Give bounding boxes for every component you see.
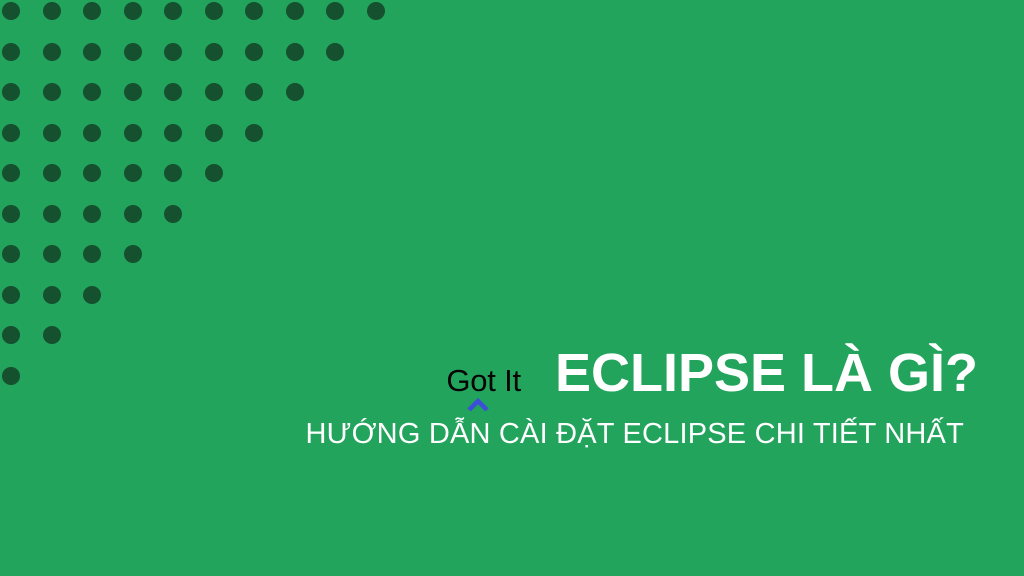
decorative-dot — [43, 43, 61, 61]
decorative-dot — [2, 43, 20, 61]
decorative-dot — [124, 2, 142, 20]
decorative-dot — [124, 245, 142, 263]
decorative-dot — [205, 164, 223, 182]
decorative-dot — [245, 2, 263, 20]
decorative-dot — [83, 245, 101, 263]
decorative-dot — [43, 164, 61, 182]
banner: Got It ECLIPSE LÀ GÌ? HƯỚNG DẪN CÀI ĐẶT … — [0, 0, 1024, 576]
decorative-dot — [164, 2, 182, 20]
decorative-dot — [164, 43, 182, 61]
decorative-dot — [83, 124, 101, 142]
decorative-dot — [205, 43, 223, 61]
decorative-dot — [245, 124, 263, 142]
decorative-dot — [124, 205, 142, 223]
decorative-dot — [286, 83, 304, 101]
decorative-dot — [205, 83, 223, 101]
chevron-up-icon — [467, 398, 489, 411]
decorative-dot — [2, 326, 20, 344]
decorative-dot — [205, 124, 223, 142]
decorative-dot — [2, 164, 20, 182]
decorative-dot — [83, 164, 101, 182]
decorative-dot — [43, 2, 61, 20]
decorative-dot — [83, 205, 101, 223]
decorative-dot — [83, 43, 101, 61]
decorative-dot — [286, 43, 304, 61]
decorative-dot — [326, 43, 344, 61]
decorative-dot — [83, 83, 101, 101]
decorative-dot — [43, 326, 61, 344]
decorative-dot — [43, 205, 61, 223]
decorative-dot — [43, 124, 61, 142]
decorative-dot — [164, 124, 182, 142]
decorative-dot — [245, 83, 263, 101]
got-it-logo[interactable]: Got It — [446, 365, 521, 400]
decorative-dot — [2, 2, 20, 20]
decorative-dot — [164, 205, 182, 223]
decorative-dot — [286, 2, 304, 20]
decorative-dot — [43, 245, 61, 263]
decorative-dot — [367, 2, 385, 20]
decorative-dot — [2, 286, 20, 304]
decorative-dot — [124, 164, 142, 182]
decorative-dot — [2, 124, 20, 142]
decorative-dot — [124, 124, 142, 142]
decorative-dot — [124, 43, 142, 61]
decorative-dot — [83, 2, 101, 20]
decorative-dot — [326, 2, 344, 20]
decorative-dot — [43, 83, 61, 101]
decorative-dot — [83, 286, 101, 304]
logo-wordmark: Got It — [446, 365, 521, 396]
decorative-dot — [164, 83, 182, 101]
page-title: ECLIPSE LÀ GÌ? — [555, 346, 978, 400]
decorative-dot — [2, 245, 20, 263]
decorative-dot — [164, 164, 182, 182]
headline-row: Got It ECLIPSE LÀ GÌ? — [0, 344, 978, 400]
decorative-dot — [124, 83, 142, 101]
decorative-dot — [2, 83, 20, 101]
dot-grid-pattern — [0, 0, 400, 400]
decorative-dot — [205, 2, 223, 20]
decorative-dot — [2, 205, 20, 223]
decorative-dot — [245, 43, 263, 61]
decorative-dot — [43, 286, 61, 304]
title-block: Got It ECLIPSE LÀ GÌ? HƯỚNG DẪN CÀI ĐẶT … — [0, 344, 978, 451]
